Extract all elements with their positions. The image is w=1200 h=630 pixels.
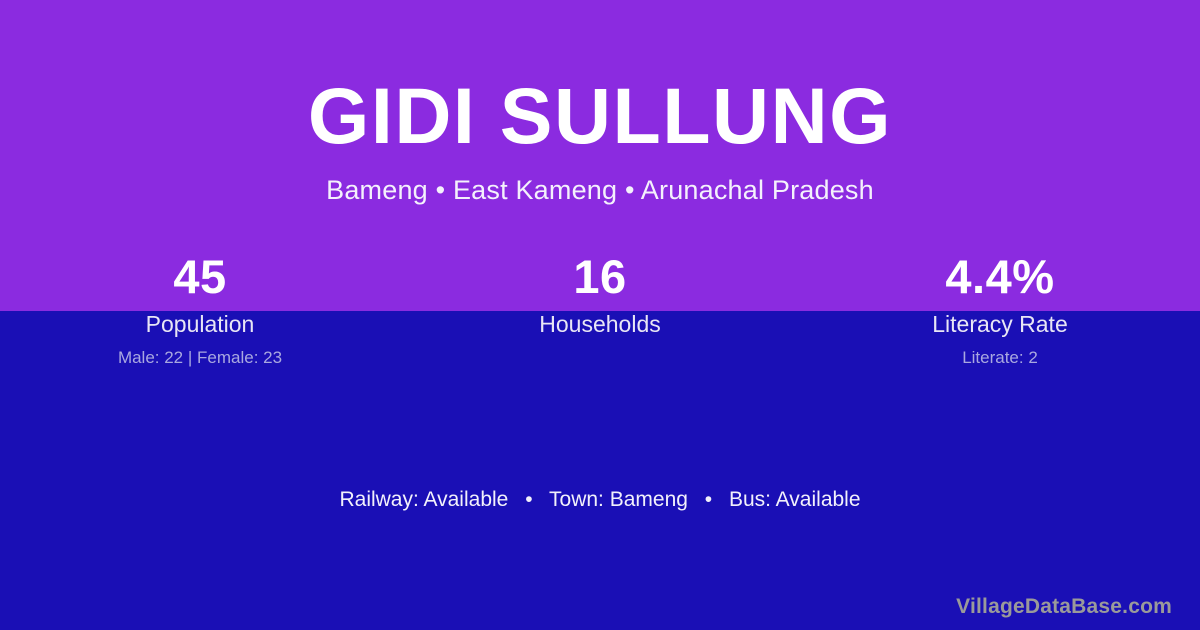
stat-value-population: 45 [0,248,400,306]
card-header: GIDI SULLUNG Bameng • East Kameng • Arun… [0,0,1200,204]
amenity-town: Town: Bameng [549,488,688,511]
amenity-separator-2: • [694,487,723,513]
amenities-line: Railway: Available • Town: Bameng • Bus:… [0,487,1200,513]
stat-population: 45 Population Male: 22 | Female: 23 [0,248,400,368]
stat-label-population: Population [0,311,400,337]
stat-literacy-rate: 4.4% Literacy Rate Literate: 2 [800,248,1200,368]
stat-label-literacy-rate: Literacy Rate [800,311,1200,337]
stat-label-households: Households [400,311,800,337]
footer-brand-label: VillageDataBase.com [956,594,1172,620]
stat-sub-households [400,348,800,368]
amenity-railway: Railway: Available [339,488,508,511]
page-title: GIDI SULLUNG [0,76,1200,155]
stat-sub-literacy-rate: Literate: 2 [800,348,1200,368]
stat-sub-population: Male: 22 | Female: 23 [0,348,400,368]
stat-households: 16 Households [400,248,800,368]
stat-value-literacy-rate: 4.4% [800,248,1200,306]
amenity-separator-1: • [514,487,543,513]
amenity-bus: Bus: Available [729,488,861,511]
stat-value-households: 16 [400,248,800,306]
breadcrumb: Bameng • East Kameng • Arunachal Pradesh [0,177,1200,204]
stats-row: 45 Population Male: 22 | Female: 23 16 H… [0,248,1200,383]
village-info-card: GIDI SULLUNG Bameng • East Kameng • Arun… [0,0,1200,630]
